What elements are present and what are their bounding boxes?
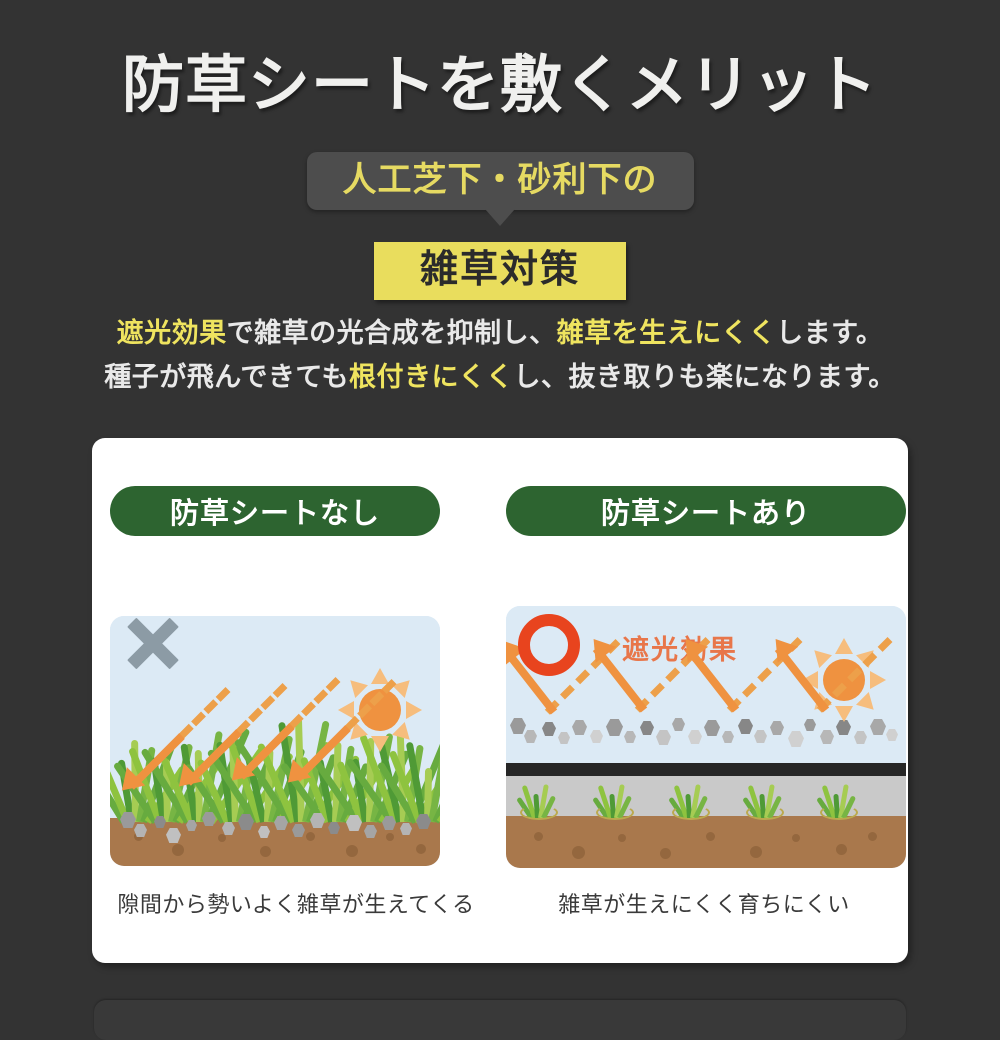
- soil-speck: [660, 848, 671, 859]
- lead-segment-2: 雑草を生えにくく: [557, 318, 776, 348]
- grass-root: [520, 805, 558, 820]
- comparison-columns: 防草シートなし 隙間から勢いよく雑草が生えてくる 防草シートあり: [92, 438, 908, 963]
- sun-icon: [338, 668, 422, 752]
- soil-speck: [706, 832, 715, 841]
- lead-line-1: 遮光効果で雑草の光合成を抑制し、雑草を生えにくくします。: [0, 312, 1000, 356]
- soil-speck: [836, 844, 847, 855]
- soil-speck: [306, 832, 315, 841]
- soil-speck: [172, 844, 184, 856]
- lead-segment-3: します。: [776, 318, 883, 348]
- comparison-column-with-sheet: 防草シートあり 遮光効果 雑草が生えにくく育ちにくい: [500, 438, 908, 963]
- soil-speck: [534, 832, 543, 841]
- grass-root: [820, 805, 858, 820]
- caption-without-sheet: 隙間から勢いよく雑草が生えてくる: [92, 887, 500, 919]
- soil-speck: [868, 832, 877, 841]
- sun-ray: [392, 722, 416, 746]
- sun-ray: [338, 701, 354, 719]
- lead-segment-1: で雑草の光合成を抑制し、: [227, 318, 557, 348]
- soil-layer: [506, 816, 906, 868]
- column-header-label: 防草シートあり: [601, 490, 811, 532]
- sheltered-grass-tuft: [536, 784, 537, 818]
- x-mark-icon: [118, 608, 188, 678]
- caption-with-sheet: 雑草が生えにくく育ちにくい: [500, 887, 908, 919]
- column-header-with-sheet: 防草シートあり: [506, 486, 906, 536]
- soil-speck: [792, 834, 800, 842]
- column-header-without-sheet: 防草シートなし: [110, 486, 440, 536]
- lead-segment-2: し、抜き取りも楽になります。: [513, 362, 895, 392]
- lead-segment-0: 遮光効果: [117, 318, 227, 348]
- sun-ray: [835, 638, 853, 654]
- lead-segment-0: 種子が飛んできても: [104, 362, 349, 392]
- comparison-column-without-sheet: 防草シートなし 隙間から勢いよく雑草が生えてくる: [92, 438, 500, 963]
- grass-root: [596, 805, 634, 820]
- soil-speck: [416, 844, 426, 854]
- subtitle-bubble: 人工芝下・砂利下の: [307, 152, 694, 210]
- next-section-container: [94, 1000, 906, 1040]
- o-mark-icon: [518, 614, 580, 676]
- highlight-strip-label: 雑草対策: [420, 251, 580, 289]
- page-title: 防草シートを敷くメリット: [0, 34, 1000, 124]
- soil-speck: [618, 834, 626, 842]
- subtitle-bubble-label: 人工芝下・砂利下の: [343, 163, 658, 197]
- illustration-with-sheet: 遮光効果: [506, 606, 906, 868]
- subtitle-bubble-wrapper: 人工芝下・砂利下の: [0, 152, 1000, 210]
- sun-ray: [392, 674, 416, 698]
- soil-speck: [750, 846, 762, 858]
- column-header-label: 防草シートなし: [170, 490, 380, 532]
- sheltered-grass-tuft: [836, 784, 837, 818]
- soil-speck: [386, 833, 394, 841]
- sheltered-grass-tuft: [688, 784, 689, 818]
- grass-root: [672, 805, 710, 820]
- page-root: 防草シートを敷くメリット 人工芝下・砂利下の 雑草対策 遮光効果で雑草の光合成を…: [0, 0, 1000, 1008]
- soil-speck: [260, 846, 271, 857]
- sun-ray: [371, 668, 389, 684]
- weed-control-sheet: [506, 763, 906, 776]
- sun-ray: [835, 706, 853, 722]
- soil-speck: [346, 845, 358, 857]
- lead-paragraph: 遮光効果で雑草の光合成を抑制し、雑草を生えにくくします。 種子が飛んできても根付…: [0, 312, 1000, 399]
- highlight-strip-wrapper: 雑草対策: [0, 242, 1000, 300]
- sun-ray: [856, 692, 880, 716]
- sun-ray: [870, 671, 886, 689]
- lead-line-2: 種子が飛んできても根付きにくくし、抜き取りも楽になります。: [0, 356, 1000, 400]
- sheltered-grass-tuft: [762, 784, 763, 818]
- lead-segment-1: 根付きにくく: [349, 362, 513, 392]
- comparison-card: 防草シートなし 隙間から勢いよく雑草が生えてくる 防草シートあり: [92, 438, 908, 963]
- sun-ray: [406, 701, 422, 719]
- sheltered-grass-tuft: [612, 784, 613, 818]
- soil-speck: [572, 846, 585, 859]
- sun-ray: [371, 736, 389, 752]
- grass-root: [746, 805, 784, 820]
- soil-speck: [218, 834, 226, 842]
- highlight-strip: 雑草対策: [374, 242, 626, 300]
